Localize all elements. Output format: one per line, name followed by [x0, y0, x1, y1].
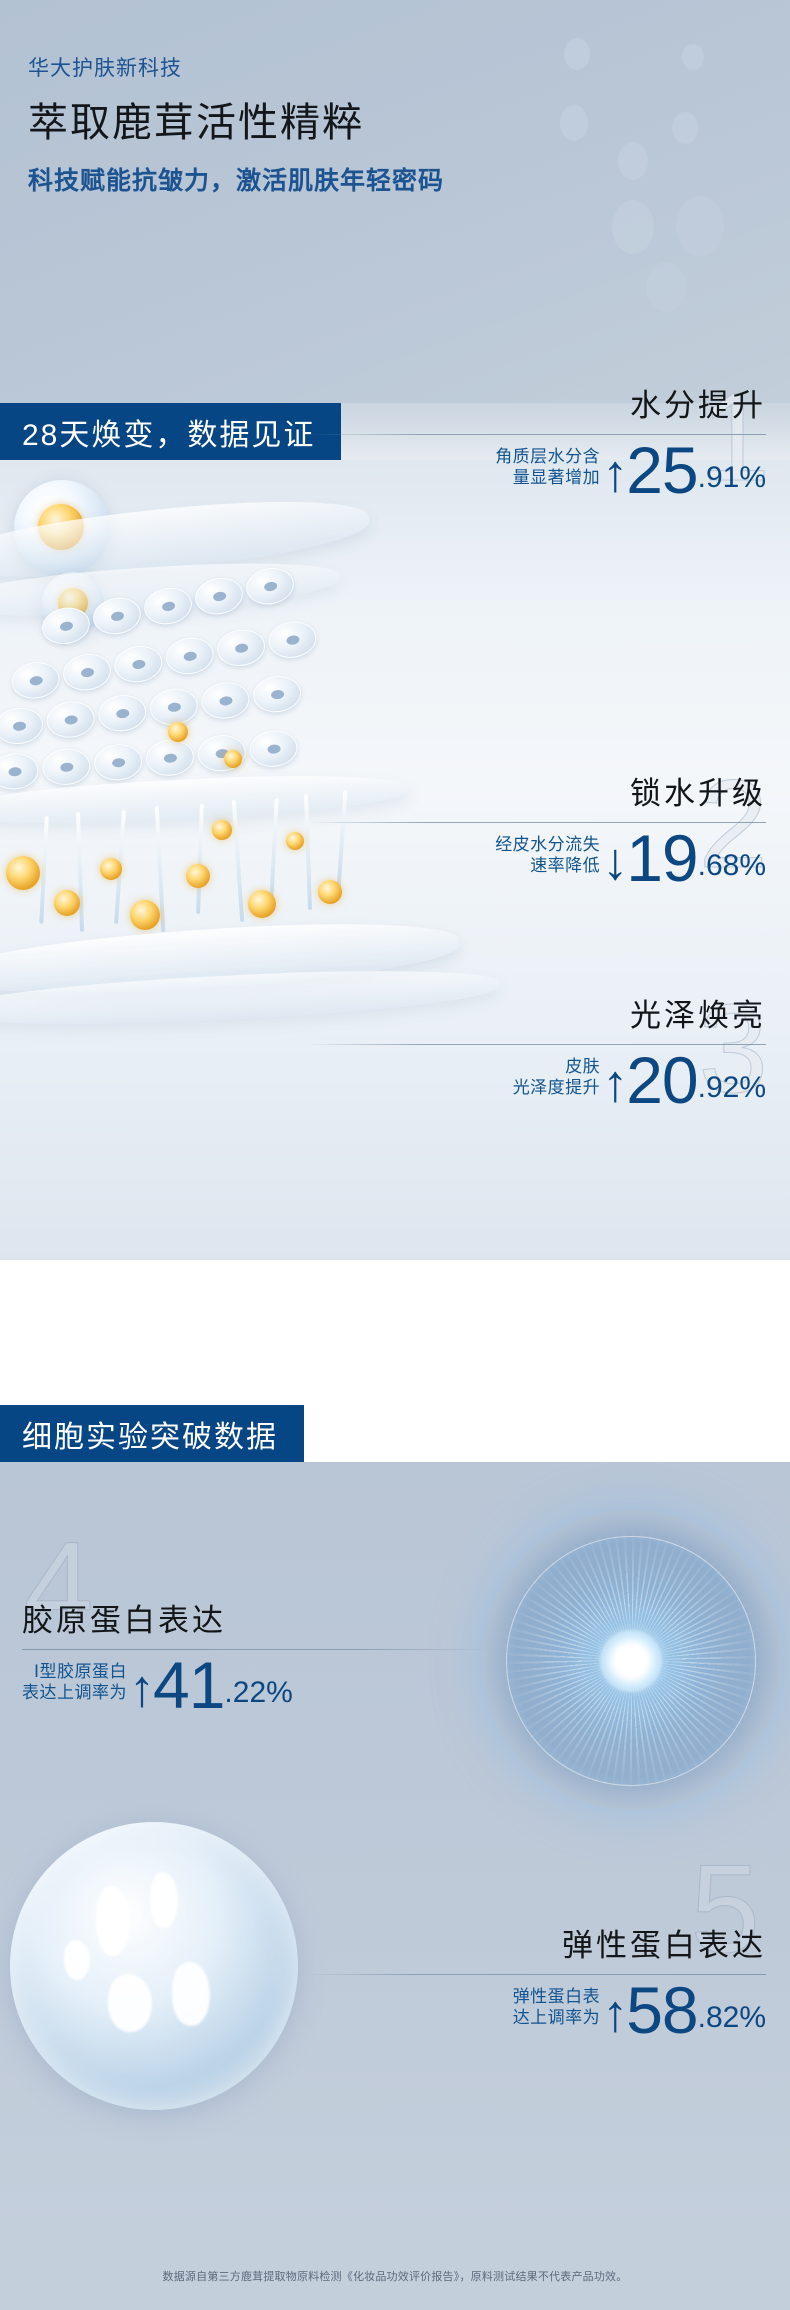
stat-block-moisture-lock: 锁水升级 经皮水分流失 速率降低 ↓ 19 .68% — [306, 778, 766, 885]
section-banner-clinical: 28天焕变，数据见证 — [0, 403, 341, 460]
stat-description: 弹性蛋白表 达上调率为 — [513, 1986, 601, 2038]
stat-description-line1: 角质层水分含 — [495, 446, 600, 467]
footer-disclaimer-text: 数据源自第三方鹿茸提取物原料检测《化妆品功效评价报告》，原料测试结果不代表产品功… — [163, 2268, 628, 2284]
stat-description: 经皮水分流失 速率降低 — [495, 834, 600, 886]
hero-text-block: 华大护肤新科技 萃取鹿茸活性精粹 科技赋能抗皱力，激活肌肤年轻密码 — [28, 52, 548, 196]
stat-title: 水分提升 — [306, 390, 766, 421]
trend-up-icon: ↑ — [602, 1063, 628, 1107]
stat-description-line2: 光泽度提升 — [513, 1077, 601, 1098]
stat-title: 弹性蛋白表达 — [306, 1930, 766, 1961]
trend-up-icon: ↑ — [602, 453, 628, 497]
stat-block-radiance: 光泽焕亮 皮肤 光泽度提升 ↑ 20 .92% — [306, 1000, 766, 1107]
stat-decimal: .91% — [698, 463, 766, 497]
cell-experiment-illustration — [0, 1462, 790, 2242]
stat-value-row: 经皮水分流失 速率降低 ↓ 19 .68% — [306, 831, 766, 885]
cell-nucleus — [64, 1940, 90, 1980]
trend-down-icon: ↓ — [602, 841, 628, 885]
stat-number: 41 — [153, 1658, 224, 1712]
cell-blob — [10, 1822, 298, 2110]
stat-number: 20 — [626, 1053, 697, 1107]
stat-decimal: .22% — [224, 1678, 292, 1712]
stat-description-line1: 皮肤 — [513, 1056, 601, 1077]
stat-block-hydration: 水分提升 角质层水分含 量显著增加 ↑ 25 .91% — [306, 390, 766, 497]
hero-title: 萃取鹿茸活性精粹 — [28, 100, 548, 146]
cell-nucleus — [172, 1962, 210, 2026]
stat-decimal: .92% — [698, 1073, 766, 1107]
stat-title: 锁水升级 — [306, 778, 766, 809]
cell-nucleus — [150, 1872, 178, 1928]
stat-decimal: .68% — [698, 851, 766, 885]
trend-up-icon: ↑ — [129, 1668, 155, 1712]
hero-section: 华大护肤新科技 萃取鹿茸活性精粹 科技赋能抗皱力，激活肌肤年轻密码 — [0, 0, 790, 403]
stat-number: 19 — [626, 831, 697, 885]
cell-nucleus — [96, 1886, 130, 1956]
stat-block-elastin: 弹性蛋白表达 弹性蛋白表 达上调率为 ↑ 58 .82% — [306, 1930, 766, 2037]
stat-value-row: 皮肤 光泽度提升 ↑ 20 .92% — [306, 1053, 766, 1107]
footer-disclaimer-bar: 数据源自第三方鹿茸提取物原料检测《化妆品功效评价报告》，原料测试结果不代表产品功… — [0, 2242, 790, 2310]
stat-description-line1: Ⅰ型胶原蛋白 — [22, 1661, 127, 1682]
stat-description-line2: 量显著增加 — [495, 467, 600, 488]
section-banner-cellular: 细胞实验突破数据 — [0, 1405, 304, 1462]
orb-core — [600, 1630, 662, 1692]
stat-description: 角质层水分含 量显著增加 — [495, 446, 600, 498]
stat-divider — [22, 1649, 492, 1650]
stat-description-line1: 弹性蛋白表 — [513, 1986, 601, 2007]
stat-description-line2: 达上调率为 — [513, 2007, 601, 2028]
stat-title: 胶原蛋白表达 — [22, 1605, 492, 1636]
stat-value-row: 角质层水分含 量显著增加 ↑ 25 .91% — [306, 443, 766, 497]
stat-number: 25 — [626, 443, 697, 497]
hero-subtitle: 科技赋能抗皱力，激活肌肤年轻密码 — [28, 166, 548, 196]
stat-description: 皮肤 光泽度提升 — [513, 1056, 601, 1108]
infographic-page: 华大护肤新科技 萃取鹿茸活性精粹 科技赋能抗皱力，激活肌肤年轻密码 28天焕变，… — [0, 0, 790, 2310]
hero-kicker: 华大护肤新科技 — [28, 52, 548, 82]
stat-description-line1: 经皮水分流失 — [495, 834, 600, 855]
section-banner-label: 细胞实验突破数据 — [22, 1412, 278, 1456]
cell-nucleus — [108, 1974, 152, 2032]
stat-title: 光泽焕亮 — [306, 1000, 766, 1031]
section-banner-label: 28天焕变，数据见证 — [22, 410, 315, 454]
stat-description-line2: 表达上调率为 — [22, 1682, 127, 1703]
trend-up-icon: ↑ — [602, 1993, 628, 2037]
stat-decimal: .82% — [698, 2003, 766, 2037]
stat-value-row: Ⅰ型胶原蛋白 表达上调率为 ↑ 41 .22% — [22, 1658, 492, 1712]
stat-description: Ⅰ型胶原蛋白 表达上调率为 — [22, 1661, 127, 1713]
stat-value-row: 弹性蛋白表 达上调率为 ↑ 58 .82% — [306, 1983, 766, 2037]
stat-description-line2: 速率降低 — [495, 855, 600, 876]
stat-number: 58 — [626, 1983, 697, 2037]
stat-block-collagen: 胶原蛋白表达 Ⅰ型胶原蛋白 表达上调率为 ↑ 41 .22% — [22, 1605, 492, 1712]
